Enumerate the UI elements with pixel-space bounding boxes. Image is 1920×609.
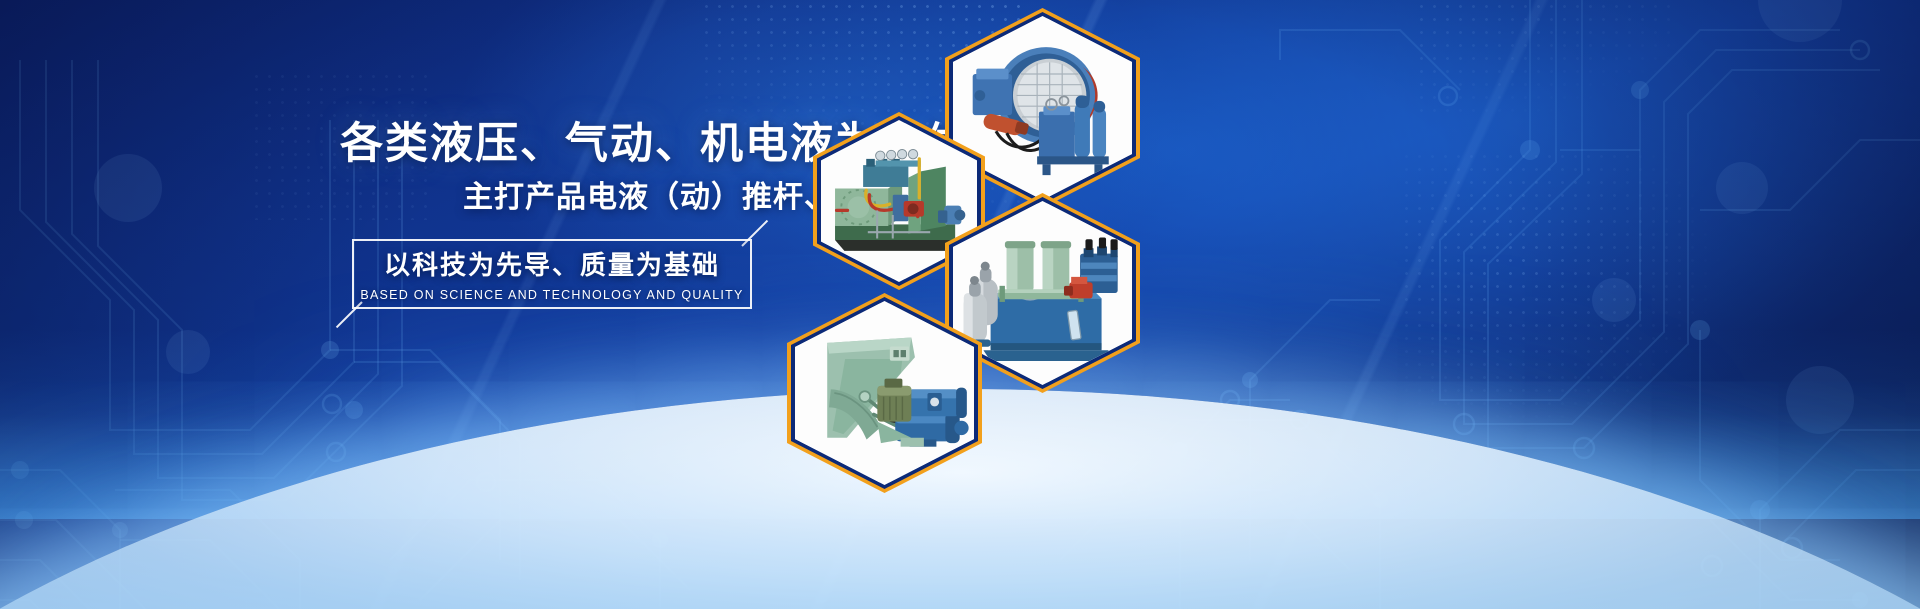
slogan-chinese: 以科技为先导、质量为基础 (384, 245, 720, 282)
product-hexagon-cluster (775, 8, 1175, 478)
slogan-english: BASED ON SCIENCE AND TECHNOLOGY AND QUAL… (360, 288, 743, 302)
electro-hydraulic-pusher-image (795, 301, 974, 485)
slogan-frame: 以科技为先导、质量为基础 BASED ON SCIENCE AND TECHNO… (352, 239, 752, 309)
slogan-box: 以科技为先导、质量为基础 BASED ON SCIENCE AND TECHNO… (352, 239, 752, 309)
dot-matrix-decor-c (1415, 0, 1675, 120)
hero-banner: 各类液压、气动、机电液为一体 主打产品电液（动）推杆、液压站 以科技为先导、质量… (0, 0, 1920, 609)
